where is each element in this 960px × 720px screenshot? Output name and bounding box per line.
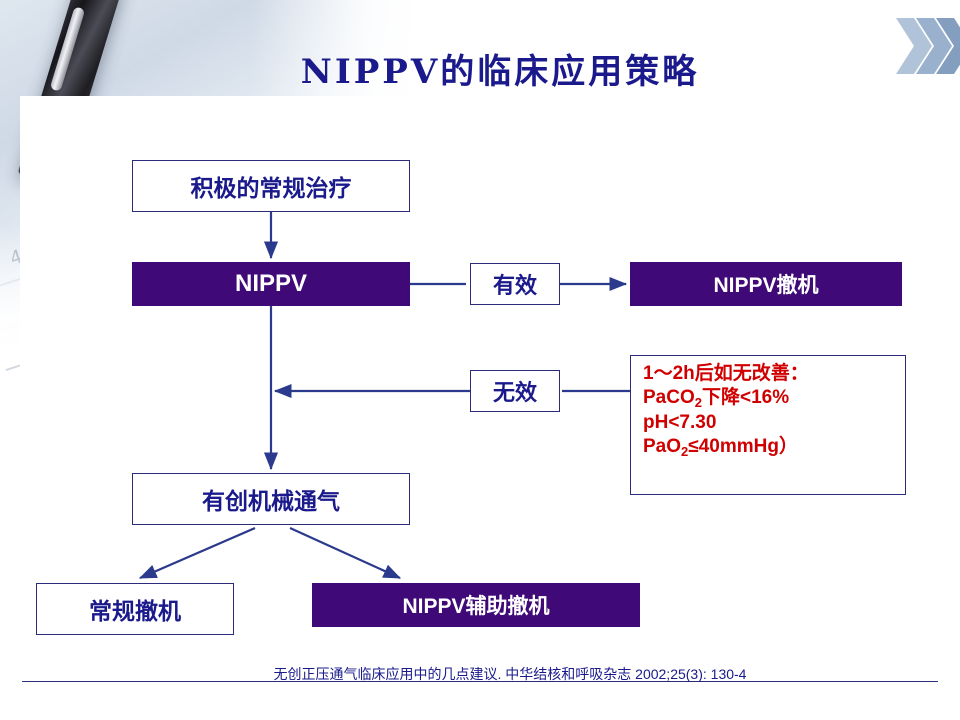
criteria-line-1: 1～2h后如无改善： [643,362,895,386]
node-effective[interactable]: 有效 [470,263,560,305]
node-nippv[interactable]: NIPPV [132,262,410,306]
node-initial-therapy[interactable]: 积极的常规治疗 [132,160,410,212]
criteria-line-4: PaO2≤40mmHg） [643,435,895,459]
criteria-line-2-pre: PaCO [643,387,695,408]
node-criteria-box[interactable]: 1～2h后如无改善： PaCO2下降<16% pH<7.30 PaO2≤40mm… [630,355,906,495]
slide-canvas: 4001226 NIPPV的临床应用策略 [0,0,960,720]
node-invasive-ventilation[interactable]: 有创机械通气 [132,473,410,525]
node-nippv-weaning[interactable]: NIPPV撤机 [630,262,902,306]
node-nippv-assisted-weaning[interactable]: NIPPV辅助撤机 [312,583,640,627]
node-ineffective[interactable]: 无效 [470,370,560,412]
criteria-line-4-sub: 2 [681,444,688,459]
criteria-line-2-post: 下降<16% [702,387,789,408]
criteria-line-4-pre: PaO [643,436,681,457]
footer-citation: 无创正压通气临床应用中的几点建议. 中华结核和呼吸杂志 2002;25(3): … [0,664,960,684]
page-title: NIPPV的临床应用策略 [0,44,960,93]
node-conventional-weaning[interactable]: 常规撤机 [36,583,234,635]
criteria-line-2: PaCO2下降<16% [643,386,895,410]
criteria-line-4-post: ≤40mmHg） [688,436,798,457]
criteria-line-3: pH<7.30 [643,411,895,435]
criteria-line-2-sub: 2 [695,395,702,410]
